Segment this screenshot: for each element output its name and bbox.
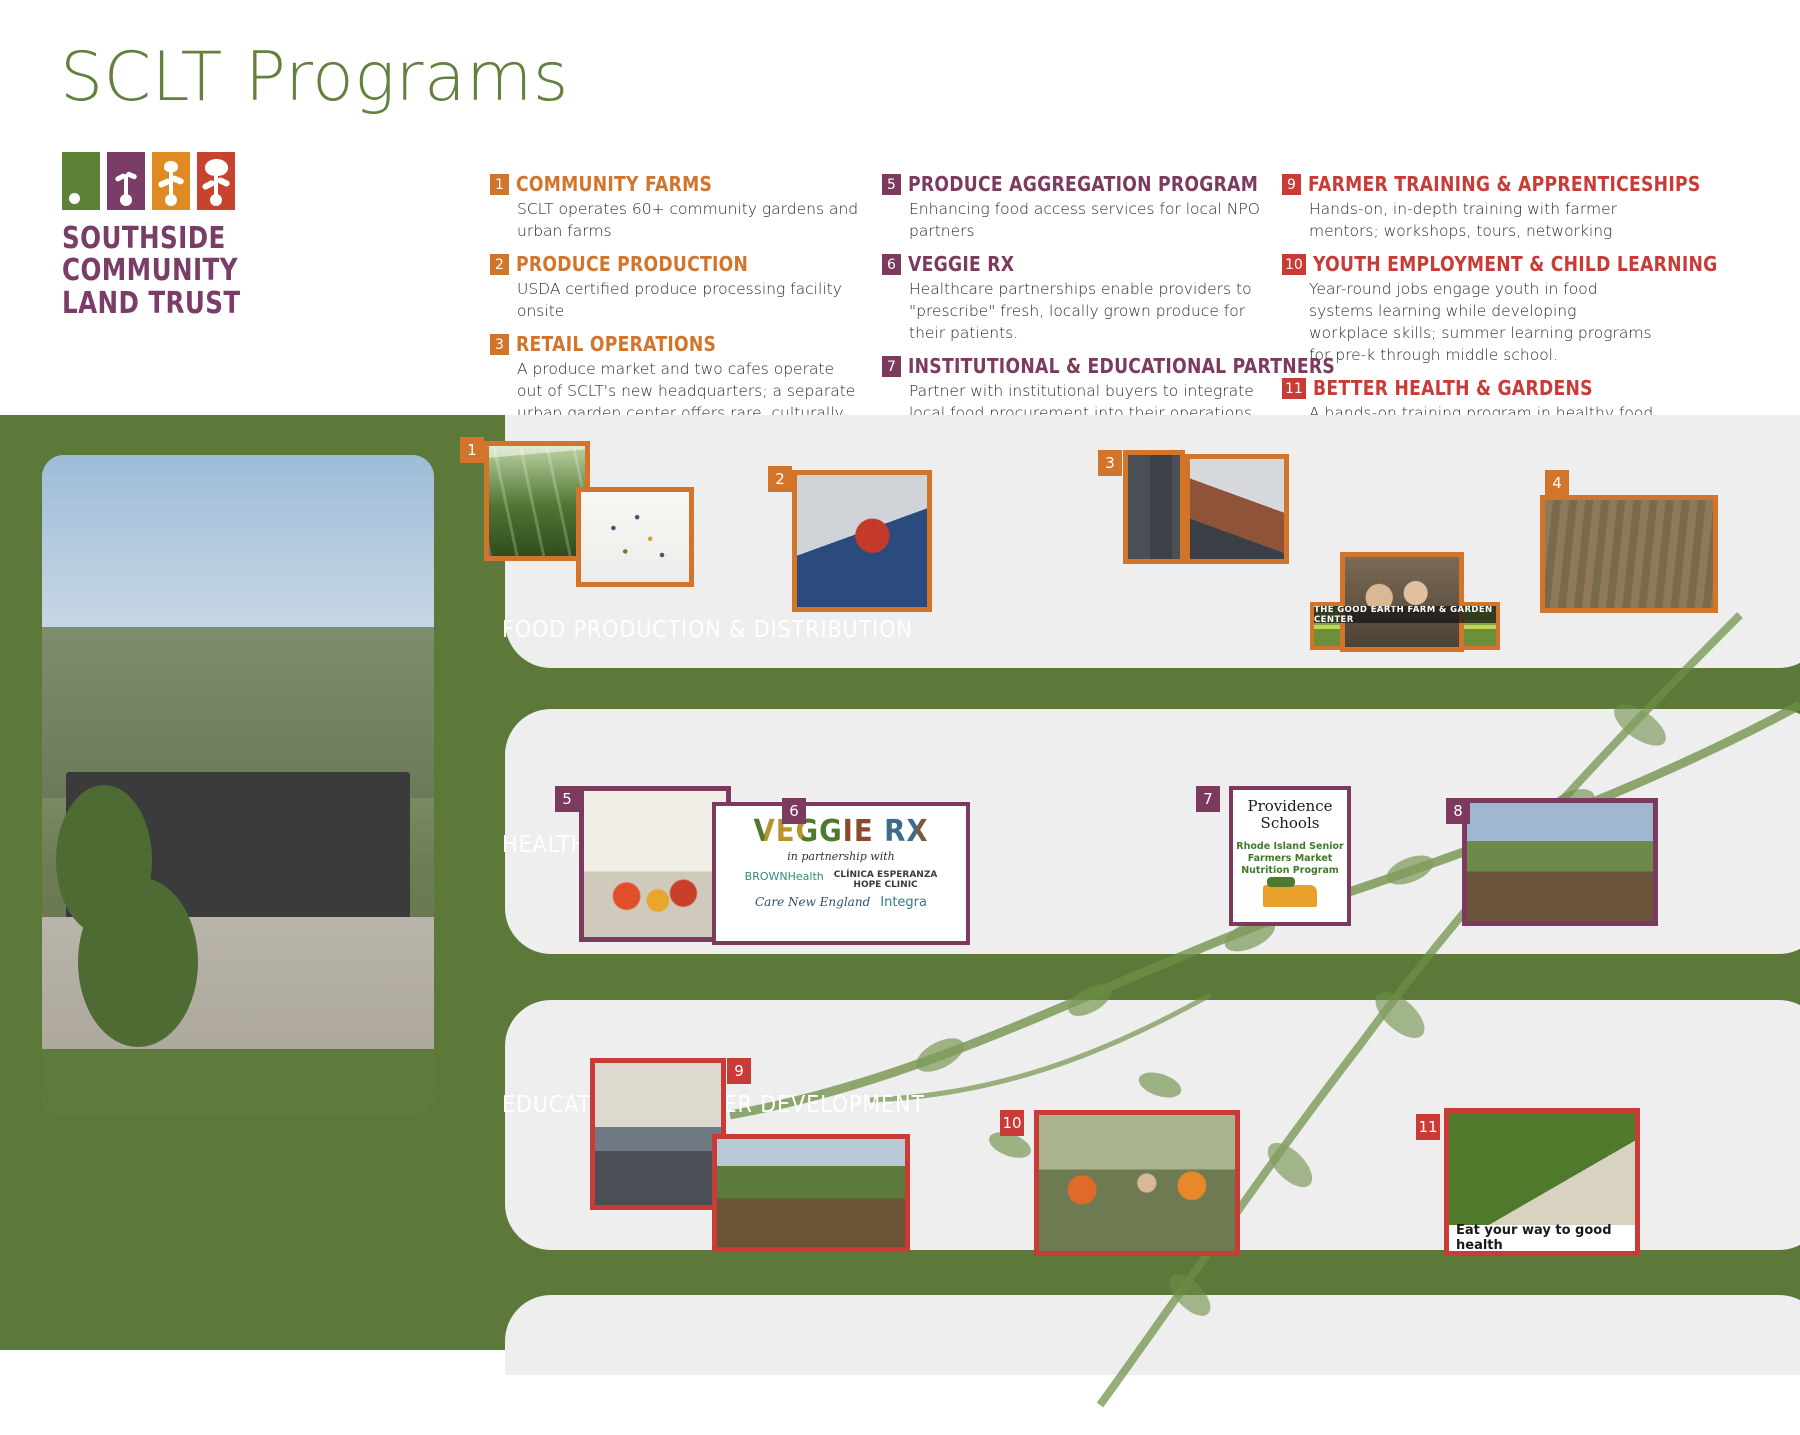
program-item: 2PRODUCE PRODUCTION USDA certified produ… bbox=[490, 252, 860, 322]
program-title: RETAIL OPERATIONS bbox=[516, 332, 716, 356]
program-number-badge: 5 bbox=[882, 174, 901, 195]
eat-well-caption: Eat your way to good health bbox=[1449, 1225, 1635, 1251]
program-title: COMMUNITY FARMS bbox=[516, 172, 712, 196]
photo-number-9: 9 bbox=[727, 1058, 751, 1084]
photo-number-5: 5 bbox=[555, 786, 579, 812]
sclt-logo: SOUTHSIDE COMMUNITY LAND TRUST bbox=[62, 152, 312, 320]
logo-square-plant-icon bbox=[152, 152, 190, 210]
photo-card-1a bbox=[484, 441, 590, 561]
photo-card-5-kitchen bbox=[579, 786, 731, 942]
brown-accent: Health bbox=[788, 870, 824, 883]
providence-program-line-2: Farmers Market bbox=[1233, 853, 1347, 865]
program-description: Enhancing food access services for local… bbox=[909, 198, 1260, 242]
program-number-badge: 2 bbox=[490, 254, 509, 275]
providence-schools-panel: Providence Schools Rhode Island Senior F… bbox=[1229, 786, 1351, 926]
clinica-line-1: CLÍNICA ESPERANZA bbox=[834, 870, 938, 880]
photo-number-7: 7 bbox=[1196, 786, 1220, 812]
logo-line-1: SOUTHSIDE bbox=[62, 223, 267, 255]
photo-card-1b-map bbox=[576, 487, 694, 587]
providence-line-1: Providence bbox=[1233, 798, 1347, 815]
photo-card-10-youth bbox=[1034, 1110, 1240, 1256]
program-description: Healthcare partnerships enable providers… bbox=[909, 278, 1260, 344]
photo-number-11: 11 bbox=[1416, 1114, 1440, 1140]
clinica-line-2: HOPE CLINIC bbox=[834, 880, 938, 890]
program-number-badge: 9 bbox=[1282, 174, 1301, 195]
photo-card-3d-people bbox=[1340, 552, 1464, 652]
logo-square-seed-icon bbox=[62, 152, 100, 210]
logo-wordmark: SOUTHSIDE COMMUNITY LAND TRUST bbox=[62, 223, 267, 320]
providence-program-line-1: Rhode Island Senior bbox=[1233, 841, 1347, 853]
veggie-rx-partner-logos: BROWNHealth CLÍNICA ESPERANZA HOPE CLINI… bbox=[716, 870, 966, 910]
photo-number-6: 6 bbox=[782, 798, 806, 824]
section-label-food: FOOD PRODUCTION & DISTRIBUTION bbox=[502, 617, 913, 643]
photo-card-3a-storefront bbox=[1123, 450, 1185, 564]
photo-number-10: 10 bbox=[1000, 1110, 1024, 1136]
logo-line-3: LAND TRUST bbox=[62, 288, 267, 320]
providence-program-line-3: Nutrition Program bbox=[1233, 865, 1347, 877]
logo-squares bbox=[62, 152, 312, 210]
program-description: USDA certified produce processing facili… bbox=[517, 278, 860, 322]
integra-logo: Integra bbox=[880, 895, 927, 910]
program-number-badge: 3 bbox=[490, 334, 509, 355]
program-title: INSTITUTIONAL & EDUCATIONAL PARTNERS bbox=[908, 354, 1335, 378]
program-description: Year-round jobs engage youth in food sys… bbox=[1309, 278, 1660, 366]
photo-card-11-greens: Eat your way to good health bbox=[1444, 1108, 1640, 1256]
logo-square-bloom-icon bbox=[197, 152, 235, 210]
photo-number-3: 3 bbox=[1098, 450, 1122, 476]
program-title: BETTER HEALTH & GARDENS bbox=[1313, 376, 1593, 400]
veggie-rx-subtitle: in partnership with bbox=[716, 850, 966, 863]
section-backdrop-bottom bbox=[505, 1295, 1800, 1375]
logo-line-2: COMMUNITY bbox=[62, 255, 267, 287]
program-number-badge: 11 bbox=[1282, 378, 1306, 399]
photo-card-8-garden bbox=[1462, 798, 1658, 926]
program-number-badge: 10 bbox=[1282, 254, 1306, 275]
brown-health-logo: BROWNHealth bbox=[745, 870, 824, 891]
photo-card-9b-planting bbox=[712, 1134, 910, 1252]
page-title: SCLT Programs bbox=[60, 38, 569, 117]
program-title: PRODUCE PRODUCTION bbox=[516, 252, 748, 276]
program-item: 6VEGGIE RX Healthcare partnerships enabl… bbox=[882, 252, 1260, 344]
good-earth-banner: THE GOOD EARTH FARM & GARDEN CENTER bbox=[1314, 606, 1496, 623]
clinica-esperanza-logo: CLÍNICA ESPERANZA HOPE CLINIC bbox=[834, 870, 938, 891]
program-item: 7INSTITUTIONAL & EDUCATIONAL PARTNERS Pa… bbox=[882, 354, 1260, 424]
program-description: Hands-on, in-depth training with farmer … bbox=[1309, 198, 1660, 242]
program-item: 5PRODUCE AGGREGATION PROGRAM Enhancing f… bbox=[882, 172, 1260, 242]
program-title: YOUTH EMPLOYMENT & CHILD LEARNING bbox=[1313, 252, 1718, 276]
brown-main: BROWN bbox=[745, 870, 788, 883]
program-number-badge: 1 bbox=[490, 174, 509, 195]
program-number-badge: 6 bbox=[882, 254, 901, 275]
veggie-rx-panel: VEGGIE RX in partnership with BROWNHealt… bbox=[712, 802, 970, 945]
program-title: PRODUCE AGGREGATION PROGRAM bbox=[908, 172, 1258, 196]
program-number-badge: 7 bbox=[882, 356, 901, 377]
farm-truck-icon bbox=[1263, 885, 1317, 907]
care-new-england-logo: Care New England bbox=[755, 895, 870, 910]
veggie-rx-title: VEGGIE RX bbox=[726, 814, 956, 849]
photo-card-4-field bbox=[1540, 495, 1718, 613]
headquarters-aerial-photo bbox=[42, 455, 434, 1115]
photo-card-3b-kitchen bbox=[1185, 454, 1289, 564]
photo-number-4: 4 bbox=[1545, 470, 1569, 496]
photo-number-1: 1 bbox=[460, 437, 484, 463]
program-title: FARMER TRAINING & APPRENTICESHIPS bbox=[1308, 172, 1701, 196]
providence-title: Providence Schools bbox=[1233, 798, 1347, 832]
providence-program-name: Rhode Island Senior Farmers Market Nutri… bbox=[1233, 841, 1347, 878]
photo-card-2 bbox=[792, 470, 932, 612]
photo-card-9a-classroom bbox=[590, 1058, 726, 1210]
program-item: 9FARMER TRAINING & APPRENTICESHIPS Hands… bbox=[1282, 172, 1660, 242]
providence-line-2: Schools bbox=[1233, 815, 1347, 832]
logo-square-sprout-icon bbox=[107, 152, 145, 210]
photo-number-8: 8 bbox=[1446, 798, 1470, 824]
program-item: 1COMMUNITY FARMS SCLT operates 60+ commu… bbox=[490, 172, 860, 242]
program-description: SCLT operates 60+ community gardens and … bbox=[517, 198, 860, 242]
program-title: VEGGIE RX bbox=[908, 252, 1014, 276]
program-item: 10YOUTH EMPLOYMENT & CHILD LEARNING Year… bbox=[1282, 252, 1660, 366]
photo-number-2: 2 bbox=[768, 466, 792, 492]
